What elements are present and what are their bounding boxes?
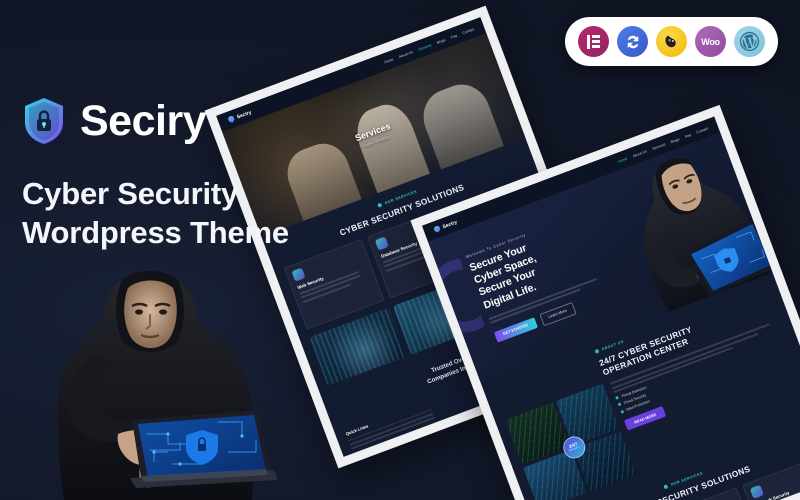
eyebrow-dot-icon (664, 484, 669, 489)
brand-row: Seciry (22, 96, 322, 146)
nav-item-contact[interactable]: Contact (462, 27, 475, 35)
read-more-button[interactable]: READ MORE (624, 406, 666, 431)
hooded-hacker-photo (22, 238, 280, 500)
sync-arrows-glyph (624, 33, 642, 51)
title-line-1: Cyber Security (22, 174, 322, 213)
brand-name: Seciry (80, 100, 206, 143)
card-title: Network Security (755, 474, 800, 500)
sync-badge-icon[interactable] (617, 26, 648, 57)
plugin-badges: Woo (565, 17, 778, 66)
promo-text-block: Seciry Cyber Security Wordpress Theme (22, 96, 322, 253)
learn-more-button[interactable]: Learn More (539, 302, 577, 326)
nav-item-about[interactable]: About Us (632, 149, 647, 158)
nav-item-faq[interactable]: Faq (450, 33, 457, 39)
get-started-button[interactable]: GET STARTED (494, 317, 538, 342)
nav-logo[interactable]: Seciry (433, 218, 458, 233)
eyebrow-dot-icon (595, 349, 600, 354)
woocommerce-badge-icon[interactable]: Woo (695, 26, 726, 57)
wordpress-glyph (739, 31, 760, 52)
shield-lock-icon (22, 96, 66, 146)
wordpress-badge-icon[interactable] (734, 26, 765, 57)
nav-item-services[interactable]: Services (418, 43, 432, 52)
card-icon (291, 268, 305, 282)
nav-logo-label: Seciry (442, 219, 458, 230)
page-title: Cyber Security Wordpress Theme (22, 174, 322, 253)
elementor-glyph (587, 35, 600, 49)
nav-item-faq[interactable]: Faq (684, 132, 691, 138)
nav-item-about[interactable]: About Us (398, 50, 413, 59)
promo-banner: Seciry Cyber Security Wordpress Theme (0, 0, 800, 500)
hero-copy: Welcome To Cyber Security Secure Your Cy… (465, 213, 610, 343)
mailchimp-monkey-glyph (662, 32, 681, 51)
bullet-icon (618, 403, 622, 407)
card-text-line (301, 275, 360, 299)
mailchimp-badge-icon[interactable] (656, 26, 687, 57)
shield-icon (433, 225, 441, 234)
nav-item-contact[interactable]: Contact (696, 126, 709, 134)
nav-item-home[interactable]: Home (617, 156, 627, 163)
elementor-badge-icon[interactable] (578, 26, 609, 57)
eyebrow-dot-icon (378, 203, 383, 208)
nav-item-services[interactable]: Services (652, 142, 666, 151)
card-icon (375, 236, 389, 250)
title-line-2: Wordpress Theme (22, 213, 322, 252)
bullet-icon (620, 410, 624, 414)
woo-label: Woo (701, 37, 719, 47)
card-icon (749, 485, 763, 499)
bullet-icon (615, 396, 619, 400)
nav-item-home[interactable]: Home (384, 57, 394, 64)
nav-item-blogs[interactable]: Blogs (436, 37, 446, 44)
nav-item-blogs[interactable]: Blogs (670, 137, 680, 144)
